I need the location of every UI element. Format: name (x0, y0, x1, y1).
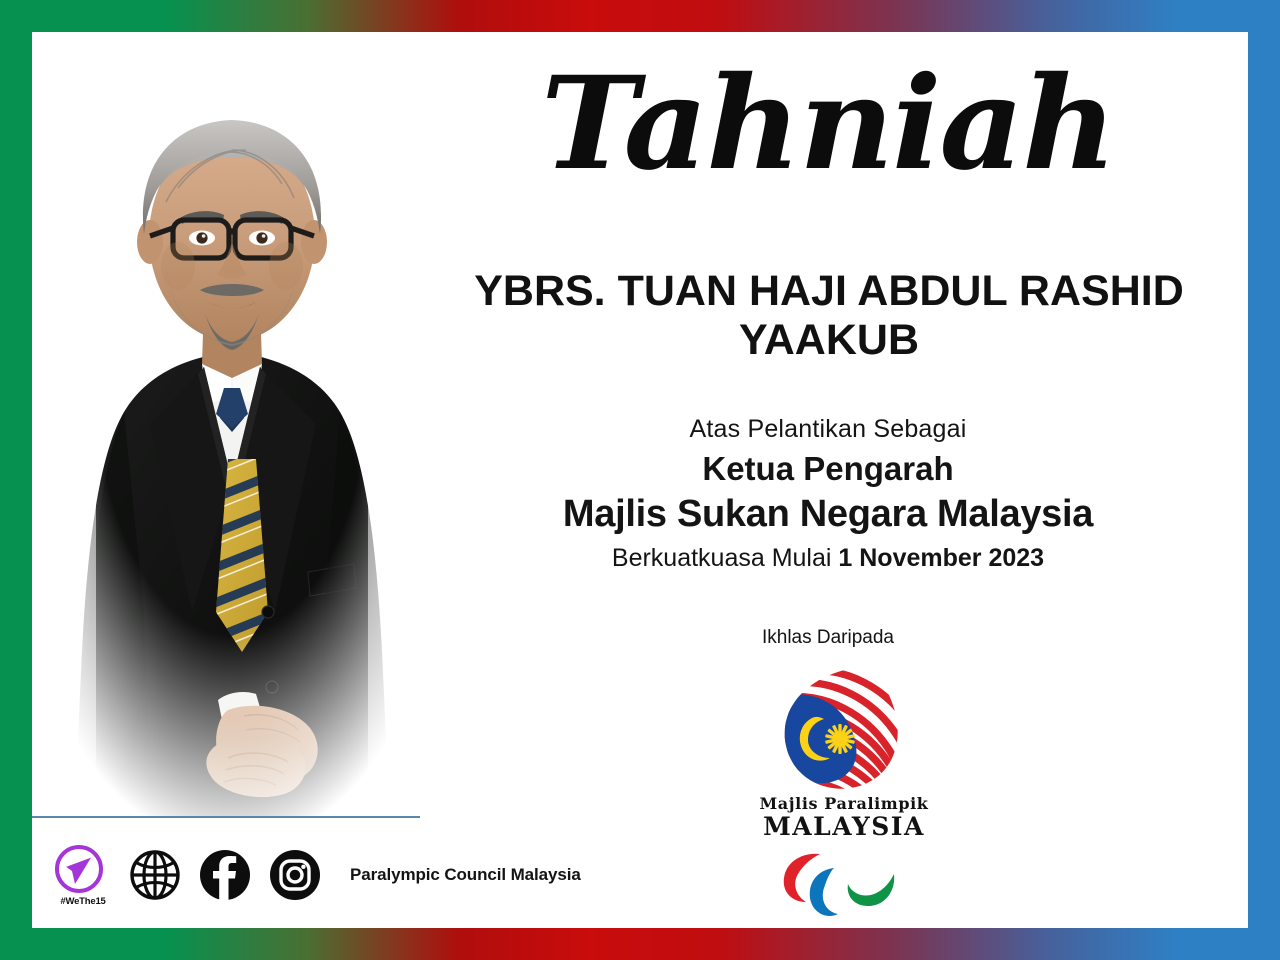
frame-border-right (1248, 0, 1280, 960)
majlis-paralimpik-malaysia-logo (774, 662, 914, 797)
wethe15-mark (54, 844, 112, 894)
paralympic-agitos-icon (778, 850, 908, 928)
from-label: Ikhlas Daripada (408, 627, 1248, 649)
logo-wordmark: Majlis Paralimpik MALAYSIA (734, 794, 954, 842)
logo-wordmark-line1: Majlis Paralimpik (734, 794, 954, 813)
greeting-headline: Tahniah (400, 60, 1248, 188)
footer-bar: #WeThe15 Paralympic Council Malay (32, 840, 792, 910)
social-handle-label: Paralympic Council Malaysia (350, 865, 581, 885)
position-title: Ketua Pengarah (408, 450, 1248, 488)
poster-card: Tahniah YBRS. TUAN HAJI ABDUL RASHID YAA… (32, 32, 1248, 928)
poster-root: Tahniah YBRS. TUAN HAJI ABDUL RASHID YAA… (0, 0, 1280, 960)
facebook-icon[interactable] (198, 848, 252, 902)
effective-date: 1 November 2023 (838, 544, 1044, 572)
wethe15-label: #WeThe15 (54, 896, 112, 907)
frame-border-top (0, 0, 1280, 32)
portrait-photo (32, 52, 432, 818)
honoree-name: YBRS. TUAN HAJI ABDUL RASHID YAAKUB (426, 267, 1232, 364)
portrait-illustration (32, 52, 432, 818)
message-column: Tahniah YBRS. TUAN HAJI ABDUL RASHID YAA… (408, 32, 1248, 928)
globe-icon[interactable] (128, 848, 182, 902)
frame-border-left (0, 0, 32, 960)
instagram-icon[interactable] (268, 848, 322, 902)
organisation-name: Majlis Sukan Negara Malaysia (408, 493, 1248, 536)
appointment-prefix: Atas Pelantikan Sebagai (408, 415, 1248, 444)
wethe15-icon[interactable]: #WeThe15 (54, 844, 112, 906)
logo-wordmark-line2: MALAYSIA (734, 813, 954, 842)
frame-border-bottom (0, 928, 1280, 960)
photo-divider-line (32, 816, 420, 818)
effective-date-line: Berkuatkuasa Mulai 1 November 2023 (408, 544, 1248, 573)
effective-prefix: Berkuatkuasa Mulai (612, 544, 839, 572)
